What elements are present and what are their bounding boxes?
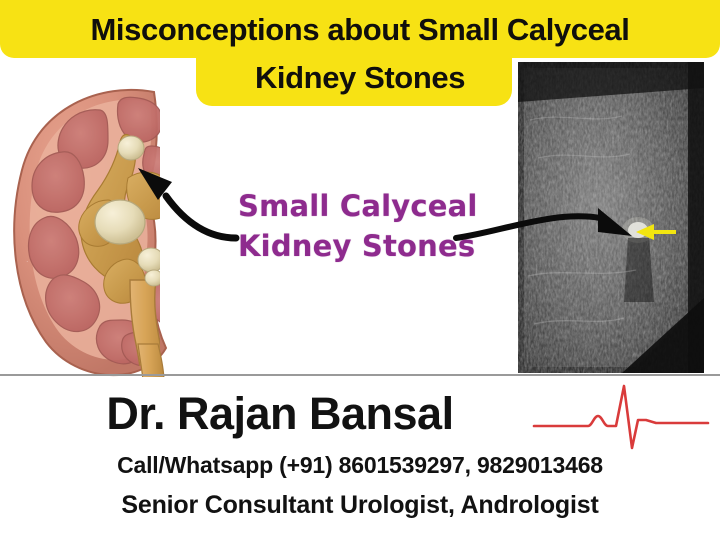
caption-small-calyceal-kidney-stones: Small Calyceal Kidney Stones: [238, 186, 488, 266]
page-title: Misconceptions about Small Calyceal Kidn…: [0, 6, 720, 102]
caption-line-2: Kidney Stones: [238, 226, 488, 266]
title-line-2: Kidney Stones: [0, 54, 720, 102]
caption-line-1: Small Calyceal: [238, 186, 488, 226]
kidney-illustration: .: [4, 82, 204, 377]
speciality-line: Senior Consultant Urologist, Andrologist: [0, 491, 720, 520]
poster: Misconceptions about Small Calyceal Kidn…: [0, 0, 720, 539]
ultrasound-image: [518, 62, 704, 373]
section-divider: [0, 374, 720, 376]
contact-line: Call/Whatsapp (+91) 8601539297, 98290134…: [0, 452, 720, 479]
svg-text:.: .: [26, 255, 29, 264]
ecg-heartbeat-icon: [532, 382, 712, 454]
title-line-1: Misconceptions about Small Calyceal: [91, 12, 630, 47]
